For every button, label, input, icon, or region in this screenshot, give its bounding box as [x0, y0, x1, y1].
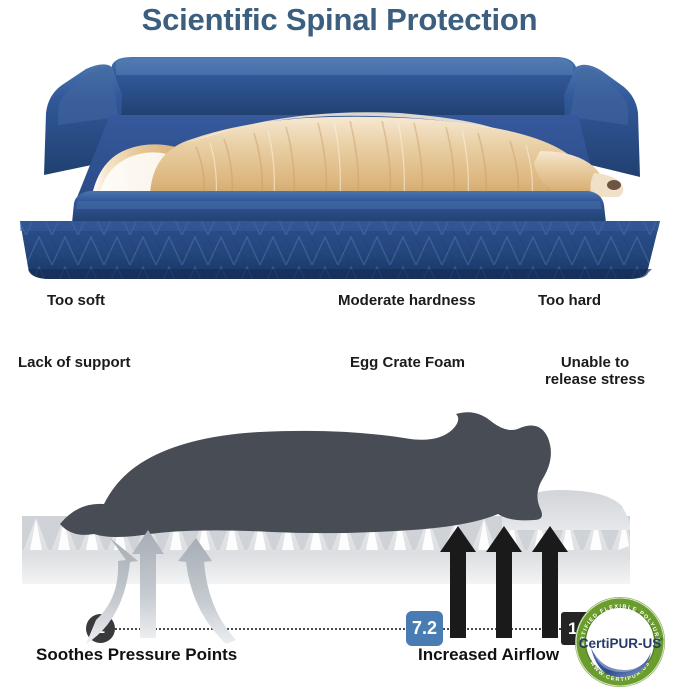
caption-increased-airflow: Increased Airflow — [418, 645, 559, 665]
certipur-wordmark: CertiPUR-US ® — [579, 636, 664, 651]
dog-bed-photo-illustration — [0, 55, 679, 285]
hardness-scale: Too soft 1 Lack of support Moderate hard… — [0, 292, 679, 397]
scale-top-label-too-hard: Too hard — [538, 292, 601, 309]
scale-top-label-too-soft: Too soft — [47, 292, 105, 309]
page-title: Scientific Spinal Protection — [0, 2, 679, 38]
scale-bottom-label-egg-crate-foam: Egg Crate Foam — [350, 354, 465, 371]
certipur-us-logo: CONTAINS CERTIFIED FLEXIBLE POLYURETHANE… — [572, 596, 668, 688]
infographic-page: Scientific Spinal Protection — [0, 0, 679, 689]
dog-silhouette — [60, 412, 551, 537]
scale-bottom-label-lack-of-support: Lack of support — [18, 354, 131, 371]
product-photo — [0, 55, 679, 285]
scale-bottom-label-unable-to-release-stress: Unable to release stress — [530, 354, 660, 388]
svg-text:CertiPUR-US: CertiPUR-US — [579, 636, 662, 651]
airflow-arrows — [440, 526, 568, 638]
unable-line-1: Unable to — [561, 354, 629, 371]
unable-line-2: release stress — [545, 371, 645, 388]
caption-soothes-pressure-points: Soothes Pressure Points — [36, 645, 237, 665]
scale-top-label-moderate-hardness: Moderate hardness — [338, 292, 476, 309]
certipur-logo-svg: CONTAINS CERTIFIED FLEXIBLE POLYURETHANE… — [572, 596, 668, 688]
